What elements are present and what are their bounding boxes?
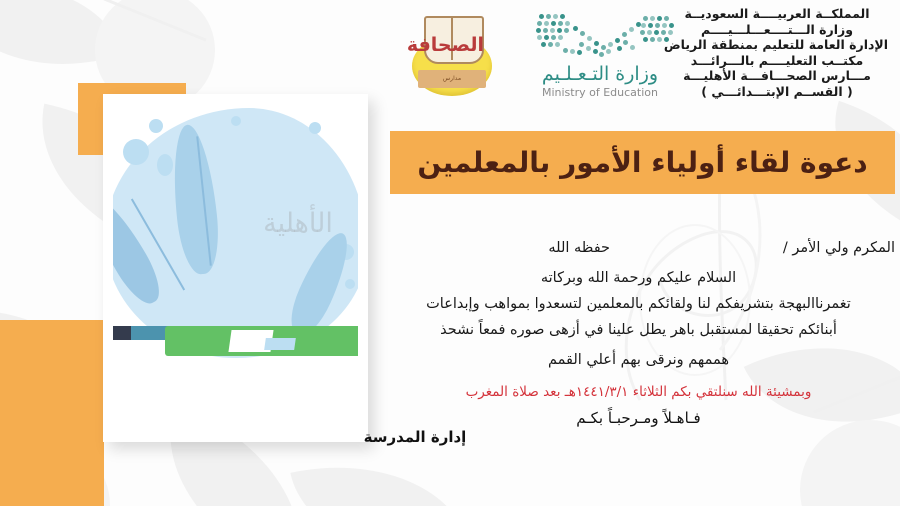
ministry-line: المملكــة العربيــــة السعوديــة [666, 6, 888, 22]
dot-map-dot [601, 45, 606, 50]
dot-map-dot [579, 42, 584, 47]
dot-map-dot [654, 30, 659, 35]
dot-map-dot [657, 37, 662, 42]
dot-map-dot [647, 30, 652, 35]
dot-map-dot [593, 49, 598, 54]
dot-map-dot [570, 49, 575, 54]
ministry-line: وزارة الـــتــــعـــلـــيــــم [666, 22, 888, 38]
dot-map-dot [629, 27, 634, 32]
meeting-datetime-line: وبمشيئة الله سنلتقي بكم الثلاثاء ١٤٤١/٣/… [382, 382, 895, 402]
school-logo: الصحافة مدارس [404, 6, 500, 102]
moe-logo-arabic-text: وزارة التـعـلـيم [525, 62, 675, 86]
salutation-recipient: المكرم ولي الأمر / [783, 240, 895, 256]
dot-map-dot [551, 35, 556, 40]
logo-ribbon-text: مدارس [418, 70, 486, 88]
dot-map-dot [650, 37, 655, 42]
school-logo-word: الصحافة [422, 32, 484, 58]
dot-map-dot [557, 28, 562, 33]
dot-map-dot [537, 35, 542, 40]
dot-map-dot [650, 16, 655, 21]
dot-map-dot [537, 21, 542, 26]
paper-sheet-icon [264, 338, 296, 350]
dot-map-dot [643, 37, 648, 42]
body-line: أبنائكم تحقيقا لمستقبل باهر يطل علينا في… [382, 320, 895, 340]
dot-map-dot [648, 23, 653, 28]
page-title: دعوة لقاء أولياء الأمور بالمعلمين [390, 131, 895, 194]
dot-map-dot [608, 42, 613, 47]
dot-map-dot [553, 14, 558, 19]
ministry-line: ( القســم الإبتـــدائـــي ) [666, 84, 888, 100]
dot-map-dot [657, 16, 662, 21]
dot-map-dot [560, 14, 565, 19]
dot-map-dot [617, 46, 622, 51]
dot-map-dot [587, 36, 592, 41]
dot-map-dot [565, 21, 570, 26]
dot-map-dot [548, 42, 553, 47]
dot-map-dot [586, 46, 591, 51]
dot-map-dot [550, 28, 555, 33]
dot-map-dot [655, 23, 660, 28]
dot-map-dot [573, 26, 578, 31]
ministry-line: الإدارة العامة للتعليم بمنطقة الرياض [666, 37, 888, 53]
dot-map-dot [640, 30, 645, 35]
dot-map-dot [539, 14, 544, 19]
dot-map-icon [533, 12, 673, 58]
dot-map-dot [544, 21, 549, 26]
dot-map-dot [641, 23, 646, 28]
body-line: السلام عليكم ورحمة الله وبركاته [382, 268, 895, 288]
ministry-header-text: المملكــة العربيــــة السعوديــة وزارة ا… [666, 6, 888, 100]
body-line: هممهم ونرقى بهم أعلي القمم [382, 350, 895, 370]
body-text-area: المكرم ولي الأمر / حفظه الله السلام عليك… [382, 240, 895, 450]
salutation-blessing: حفظه الله [548, 240, 610, 256]
signature-line: إدارة المدرسة [355, 428, 475, 446]
invitation-poster: الأهلية [0, 0, 900, 506]
ministry-line: مكتــب التعليــــم بالـــرائـــد [666, 53, 888, 69]
dot-map-dot [623, 40, 628, 45]
meeting-illustration: الأهلية [113, 104, 358, 404]
dot-map-dot [541, 42, 546, 47]
title-banner: دعوة لقاء أولياء الأمور بالمعلمين [390, 131, 895, 194]
meeting-illustration-card: الأهلية [103, 94, 368, 442]
dot-map-dot [558, 21, 563, 26]
dot-map-dot [564, 28, 569, 33]
dot-map-dot [606, 49, 611, 54]
moe-logo-english-text: Ministry of Education [525, 85, 675, 101]
dot-map-dot [563, 48, 568, 53]
orange-accent-bottom [0, 320, 104, 506]
ministry-line: مـــارس الصحـــافـــة الأهليـــة [666, 68, 888, 84]
logo-ribbon: مدارس [418, 70, 486, 88]
dot-map-dot [546, 14, 551, 19]
dot-map-dot [594, 41, 599, 46]
dot-map-dot [622, 32, 627, 37]
dot-map-dot [544, 35, 549, 40]
dot-map-dot [555, 42, 560, 47]
dot-map-dot [551, 21, 556, 26]
salutation-row: المكرم ولي الأمر / حفظه الله [382, 240, 895, 260]
dot-map-dot [599, 52, 604, 57]
dot-map-dot [615, 38, 620, 43]
dot-map-dot [536, 28, 541, 33]
dot-map-dot [543, 28, 548, 33]
dot-map-dot [643, 16, 648, 21]
welcome-line: فـاهـلاً ومـرحبـاً بكـم [382, 408, 895, 428]
ministry-of-education-logo: وزارة التـعـلـيم Ministry of Education [525, 12, 675, 104]
dot-map-dot [630, 45, 635, 50]
dot-map-dot [558, 35, 563, 40]
dot-map-dot [577, 50, 582, 55]
body-line: تغمرناالبهجة بتشريفكم لنا ولقائكم بالمعل… [382, 294, 895, 314]
dot-map-dot [580, 31, 585, 36]
